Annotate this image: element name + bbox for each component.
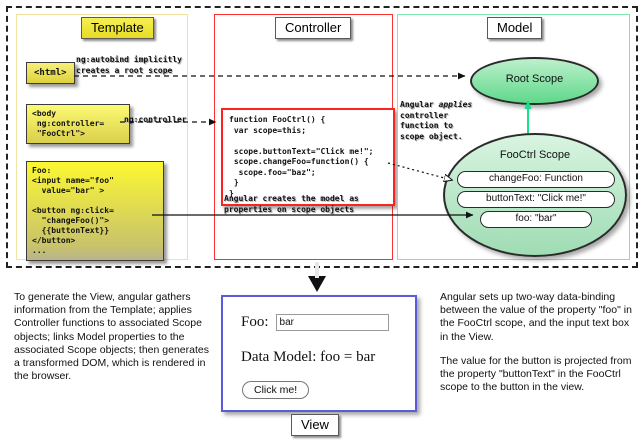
view-foo-row: Foo: bbox=[241, 314, 389, 331]
template-foo-markup: Foo: <input name="foo" value="bar" > <bu… bbox=[26, 161, 164, 261]
left-description-text: To generate the View, angular gathers in… bbox=[14, 291, 210, 383]
scope-property-foo: foo: "bar" bbox=[480, 211, 592, 228]
annotation-ng-autobind: ng:autobind implicitly creates a root sc… bbox=[76, 55, 182, 76]
annotation-applies-part1: Angular bbox=[400, 100, 439, 109]
template-html-tag: <html> bbox=[26, 62, 75, 84]
annotation-creates-model: Angular creates the model as properties … bbox=[224, 194, 359, 215]
scope-property-buttontext: buttonText: "Click me!" bbox=[457, 191, 615, 208]
root-scope-ellipse: Root Scope bbox=[470, 57, 599, 105]
diagram-canvas: Template <html> <body ng:controller= "Fo… bbox=[0, 0, 640, 446]
view-panel-label: View bbox=[291, 414, 339, 436]
controller-code-block: function FooCtrl() { var scope=this; sco… bbox=[221, 108, 395, 206]
scope-property-changefoo: changeFoo: Function bbox=[457, 171, 615, 188]
template-body-tag: <body ng:controller= "FooCtrl"> bbox=[26, 104, 130, 144]
fooctrl-scope-ellipse: FooCtrl Scope changeFoo: Function button… bbox=[443, 133, 627, 257]
model-panel-label: Model bbox=[487, 17, 542, 39]
view-foo-label: Foo: bbox=[241, 314, 269, 331]
right-description-text-2: The value for the button is projected fr… bbox=[440, 355, 632, 395]
controller-panel-label: Controller bbox=[275, 17, 351, 39]
annotation-ng-controller: ng:controller bbox=[124, 115, 187, 126]
view-foo-input[interactable] bbox=[276, 314, 389, 331]
annotation-applies-part2: controller function to scope object. bbox=[400, 111, 463, 141]
fooctrl-scope-title: FooCtrl Scope bbox=[445, 149, 625, 161]
left-description: To generate the View, angular gathers in… bbox=[14, 291, 210, 394]
template-panel-label: Template bbox=[81, 17, 154, 39]
root-scope-title: Root Scope bbox=[472, 73, 597, 85]
right-description: Angular sets up two-way data-binding bet… bbox=[440, 291, 632, 405]
view-click-me-button[interactable]: Click me! bbox=[242, 381, 309, 399]
right-description-text-1: Angular sets up two-way data-binding bet… bbox=[440, 291, 632, 344]
annotation-applies-emphasis: applies bbox=[439, 100, 473, 109]
view-panel: Foo: Data Model: foo = bar Click me! bbox=[221, 295, 417, 412]
view-data-model-text: Data Model: foo = bar bbox=[241, 349, 375, 366]
annotation-applies-controller: Angular applies controller function to s… bbox=[400, 100, 472, 142]
